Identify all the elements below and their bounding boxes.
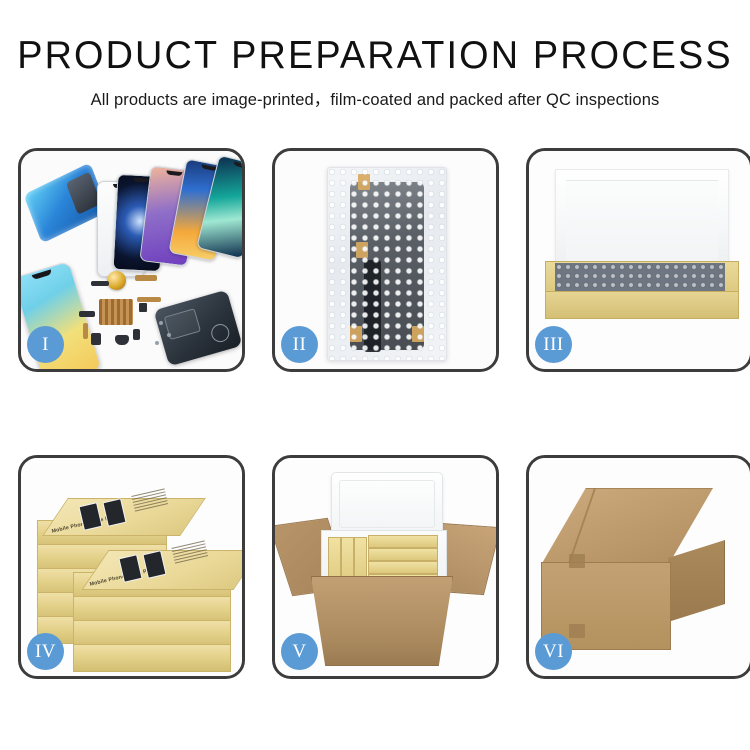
- box-stack: Mobile Phone Spare Parts Mobile Phone Sp…: [33, 476, 237, 666]
- carton-tape: [569, 624, 585, 638]
- spare-part: [115, 335, 129, 345]
- coil-part: [107, 271, 126, 290]
- packed-box: [368, 561, 438, 574]
- spare-part: [133, 329, 140, 340]
- step-badge-1: I: [27, 326, 64, 363]
- process-panel-1[interactable]: I: [18, 148, 245, 372]
- screw-part: [155, 341, 159, 345]
- process-panel-3[interactable]: III: [526, 148, 750, 372]
- packed-box: [368, 548, 438, 561]
- bubble-wrap-bag: [327, 167, 447, 361]
- step-badge-4: IV: [27, 633, 64, 670]
- carton-body: [311, 576, 453, 666]
- flex-cable-part: [137, 297, 161, 302]
- spare-part: [91, 333, 101, 345]
- step-badge-3: III: [535, 326, 572, 363]
- page-subtitle: All products are image-printed，film-coat…: [0, 86, 750, 110]
- step-badge-6: VI: [535, 633, 572, 670]
- process-panel-2[interactable]: II: [272, 148, 499, 372]
- process-panel-5[interactable]: V: [272, 455, 499, 679]
- spare-part: [91, 281, 109, 286]
- step-badge-5: V: [281, 633, 318, 670]
- stacked-box: [73, 644, 231, 672]
- spare-part: [79, 311, 95, 317]
- screw-part: [159, 321, 163, 325]
- styrofoam-lid: [331, 472, 443, 536]
- foam-lid: [555, 169, 729, 275]
- flex-cable-part: [135, 275, 157, 281]
- flex-cable-part: [83, 323, 88, 339]
- spare-part: [139, 303, 147, 312]
- process-panel-4[interactable]: Mobile Phone Spare Parts Mobile Phone Sp…: [18, 455, 245, 679]
- page-title: PRODUCT PREPARATION PROCESS: [11, 36, 739, 77]
- chip-grid-part: [99, 299, 133, 325]
- process-panel-grid: I II III: [18, 148, 732, 679]
- phone-fan-group: [93, 159, 242, 269]
- header: PRODUCT PREPARATION PROCESS All products…: [0, 0, 750, 110]
- bubble-wrap-fill: [555, 263, 725, 293]
- packed-box: [368, 535, 438, 548]
- step-badge-2: II: [281, 326, 318, 363]
- kraft-box-front: [545, 291, 739, 319]
- screw-part: [167, 333, 171, 337]
- process-panel-6[interactable]: VI: [526, 455, 750, 679]
- carton-tape: [569, 554, 585, 568]
